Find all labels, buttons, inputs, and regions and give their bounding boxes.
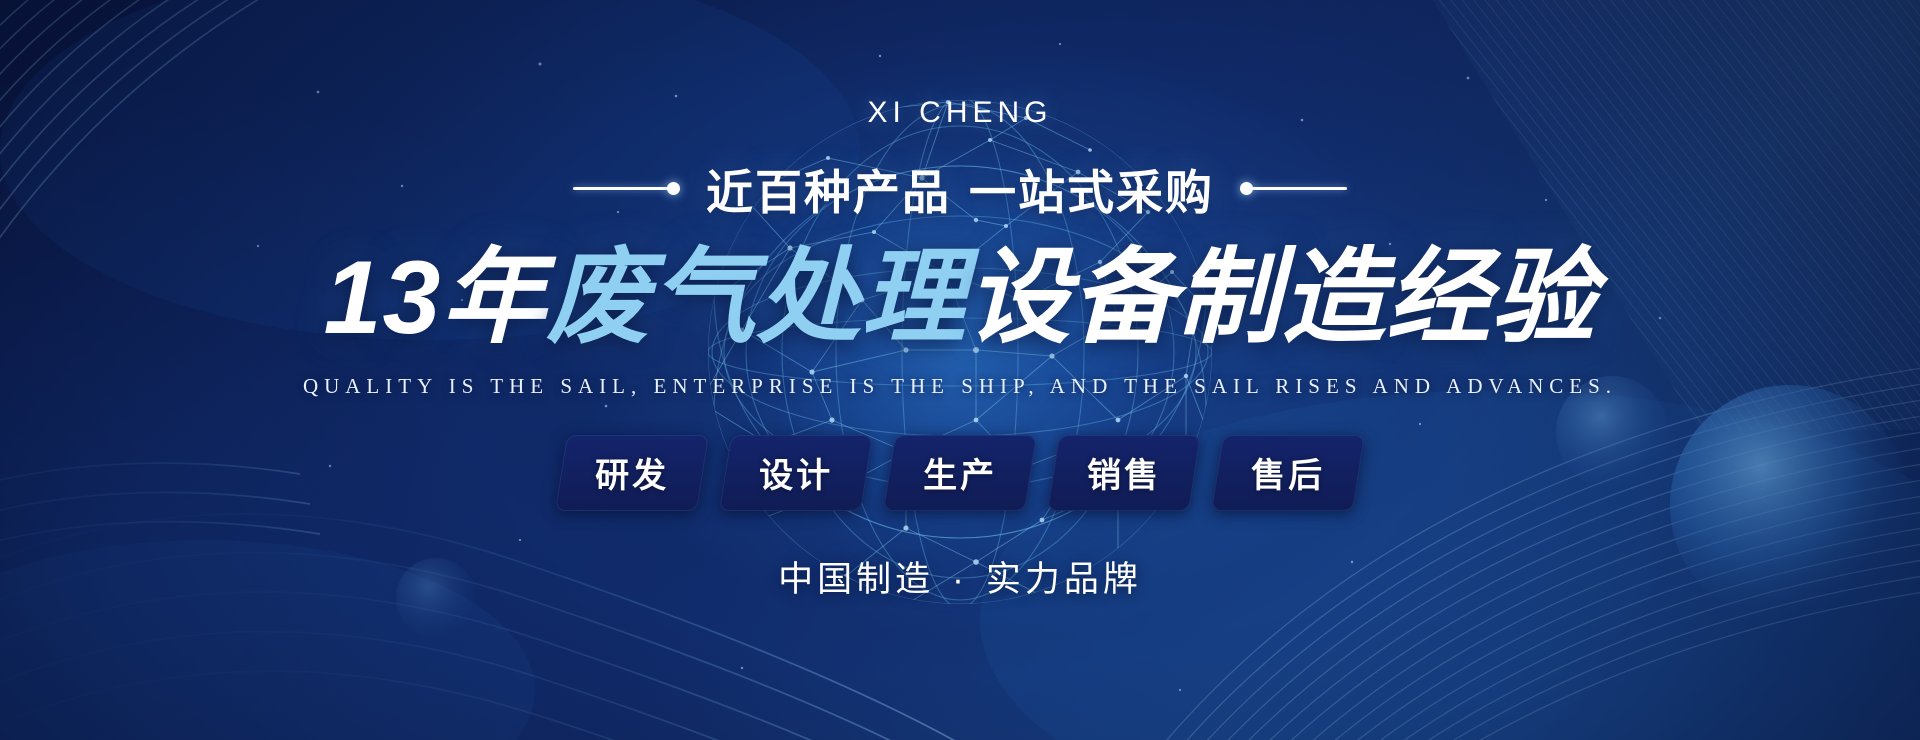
decorative-dot: [667, 182, 680, 195]
subline-part1: 近百种产品: [706, 166, 951, 219]
brand-latin-name: XI CHENG: [867, 96, 1052, 130]
english-tagline: QUALITY IS THE SAIL, ENTERPRISE IS THE S…: [303, 374, 1617, 399]
service-pill-label: 设计: [759, 448, 833, 497]
service-pill-label: 研发: [595, 448, 669, 497]
decorative-line-left: [573, 182, 680, 195]
service-pill-label: 销售: [1087, 448, 1161, 497]
footer-slogan-right: 实力品牌: [986, 560, 1142, 599]
service-pill-label: 售后: [1251, 448, 1325, 497]
service-pill-design[interactable]: 设计: [719, 435, 873, 511]
decorative-line-right: [1240, 182, 1347, 195]
subline-row: 近百种产品一站式采购: [573, 154, 1347, 223]
service-pill-label: 生产: [923, 448, 997, 497]
subline-part2: 一站式采购: [969, 166, 1214, 219]
service-pill-row: 研发 设计 生产 销售 售后: [561, 435, 1359, 511]
subline-text: 近百种产品一站式采购: [706, 154, 1214, 223]
service-pill-aftersales[interactable]: 售后: [1211, 435, 1365, 511]
service-pill-production[interactable]: 生产: [883, 435, 1037, 511]
headline-accent: 废气处理: [546, 240, 966, 356]
headline-tail: 设备制造经验: [966, 240, 1596, 356]
footer-slogan-left: 中国制造: [778, 560, 934, 599]
footer-slogan: 中国制造·实力品牌: [778, 551, 1142, 602]
decorative-bar: [573, 187, 669, 190]
footer-slogan-separator: ·: [952, 560, 968, 600]
hero-banner: XI CHENG 近百种产品一站式采购 13年废气处理设备制造经验 QUALIT…: [0, 0, 1920, 740]
headline: 13年废气处理设备制造经验: [324, 239, 1597, 358]
service-pill-sales[interactable]: 销售: [1047, 435, 1201, 511]
headline-lead: 13年: [324, 240, 547, 356]
banner-content: XI CHENG 近百种产品一站式采购 13年废气处理设备制造经验 QUALIT…: [0, 0, 1920, 740]
service-pill-rd[interactable]: 研发: [555, 435, 709, 511]
decorative-bar: [1251, 187, 1347, 190]
